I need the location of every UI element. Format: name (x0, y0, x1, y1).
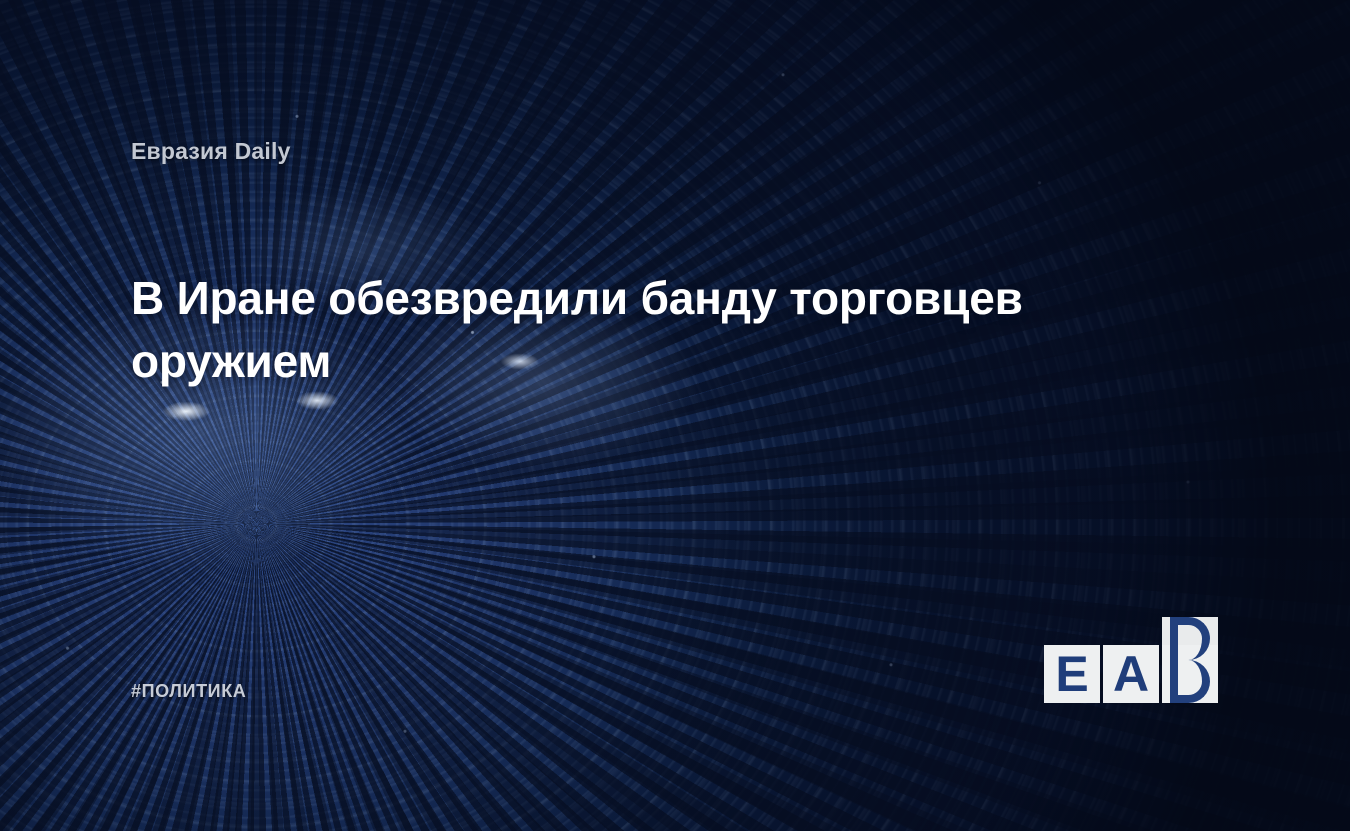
news-share-card: Евразия Daily В Иране обезвредили банду … (0, 0, 1350, 831)
headline-title: В Иране обезвредили банду торговцев оруж… (131, 267, 1201, 392)
logo-letter-d (1162, 617, 1218, 703)
card-content: Евразия Daily В Иране обезвредили банду … (0, 0, 1350, 831)
logo-letter-d-upper-bowl (1170, 617, 1210, 660)
logo-letter-e: E (1044, 645, 1100, 703)
logo-letter-a: A (1103, 645, 1159, 703)
logo-letter-d-lower-bowl (1170, 660, 1210, 703)
eadaily-logo: E A (1044, 617, 1222, 703)
category-hashtag: #ПОЛИТИКА (131, 681, 246, 702)
publication-name: Евразия Daily (131, 138, 291, 165)
